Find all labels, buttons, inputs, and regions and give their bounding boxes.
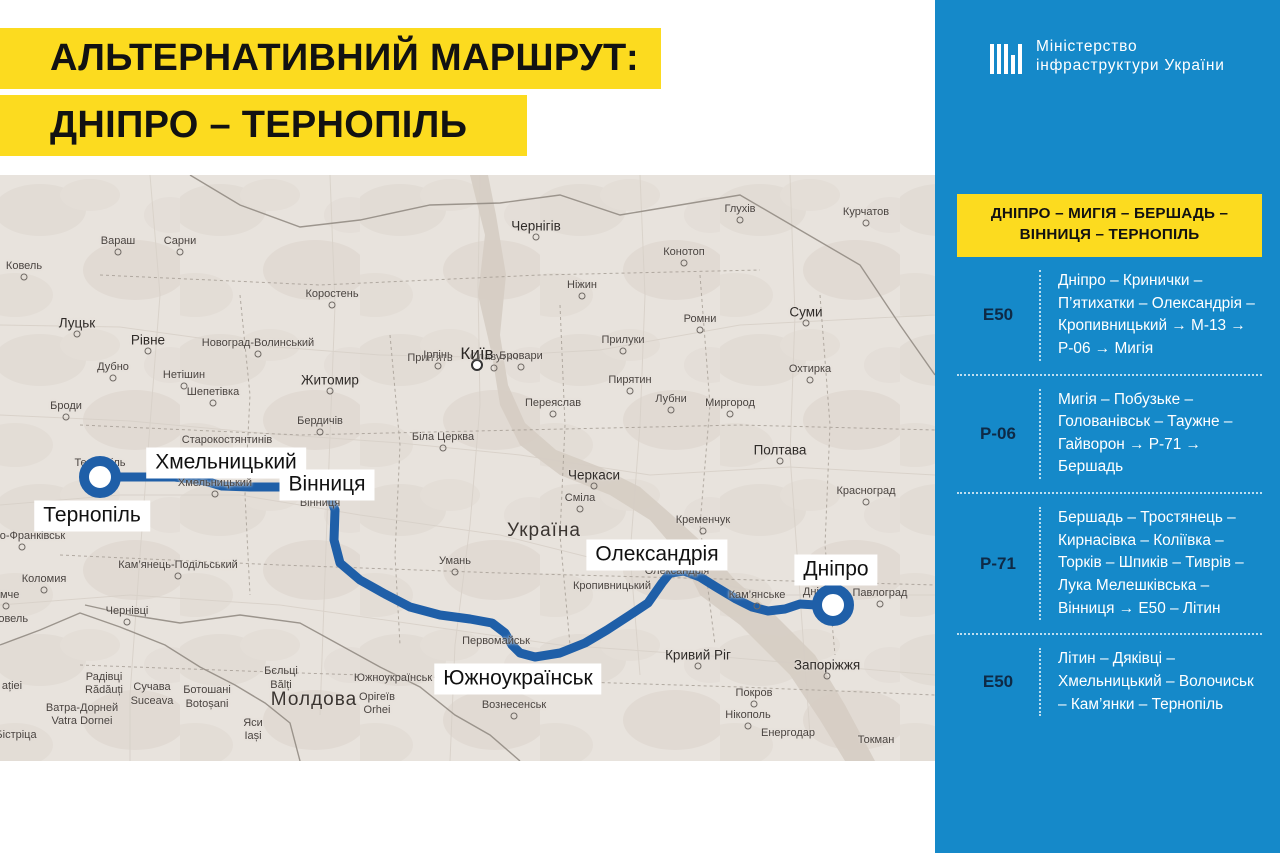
map-city-label: Охтирка [789, 363, 831, 375]
map-city-label: Ніжин [567, 279, 597, 291]
map-city-label: Енергодар [761, 727, 815, 739]
map-city-dot [435, 363, 442, 370]
map-city-label: Івано-Франківськ [0, 530, 65, 542]
map-route-city-callout[interactable]: Южноукраїнськ [434, 664, 601, 695]
map-city-dot [620, 348, 627, 355]
map-city-label: Южноукраїнськ [354, 672, 432, 684]
map-city-label: Умань [439, 555, 471, 567]
route-map[interactable]: КовельВарашСарниЛуцькРівнеНовоград-Волин… [0, 175, 935, 761]
legend-road-code: Р-71 [957, 507, 1041, 620]
map-route-city-callout[interactable]: Олександрія [586, 540, 727, 571]
map-city-label: Бровари [499, 350, 543, 362]
map-city-dot [681, 260, 688, 267]
map-city-dot [591, 483, 598, 490]
map-city-dot [145, 348, 152, 355]
map-city-dot [863, 499, 870, 506]
map-city-dot [115, 249, 122, 256]
map-city-dot [255, 351, 262, 358]
route-legend-rows: E50Дніпро – Кринички – П’ятихатки – Олек… [957, 257, 1262, 729]
map-city-dot [212, 491, 219, 498]
map-city-dot [124, 619, 131, 626]
map-city-label: Запоріжжя [794, 658, 860, 673]
map-city-dot [518, 364, 525, 371]
map-city-label: Нікополь [725, 709, 770, 721]
map-city-label: Красноград [836, 485, 895, 497]
map-city-label: Радівці [86, 671, 123, 683]
map-city-dot [511, 713, 518, 720]
map-city-label: Кам’янське [729, 589, 786, 601]
map-city-label: Курчатов [843, 206, 889, 218]
map-city-label: Vatra Dornei [52, 715, 113, 727]
map-city-label: Кременчук [676, 514, 730, 526]
map-city-dot [110, 375, 117, 382]
map-city-label: Коростень [305, 288, 358, 300]
map-city-label: Орігеїв [359, 691, 395, 703]
map-city-label: Токман [858, 734, 895, 746]
map-country-label: Україна [507, 520, 581, 542]
map-city-dot [533, 234, 540, 241]
map-city-label: Сміла [565, 492, 596, 504]
page-title-line-1: АЛЬТЕРНАТИВНИЙ МАРШРУТ: [0, 28, 661, 89]
map-city-label: Кам’янець-Подільський [118, 559, 238, 571]
map-city-dot [627, 388, 634, 395]
map-city-dot [727, 411, 734, 418]
map-city-label: Старокостянтинів [182, 434, 272, 446]
map-city-label: Бістріца [0, 729, 37, 741]
map-city-dot [210, 400, 217, 407]
map-city-label: Київ [460, 344, 493, 364]
map-city-dot [751, 701, 758, 708]
map-city-label: Кропивницький [573, 580, 651, 592]
map-route-city-callout[interactable]: Тернопіль [34, 501, 150, 532]
map-city-dot [877, 601, 884, 608]
legend-row: Р-71Бершадь – Тростянець – Кирнасівка – … [957, 492, 1262, 633]
map-city-dot [177, 249, 184, 256]
map-city-label: Покров [736, 687, 773, 699]
map-city-label: Глухів [724, 203, 755, 215]
map-route-city-callout[interactable]: Дніпро [794, 555, 877, 586]
map-city-dot [491, 365, 498, 372]
map-country-label: Молдова [271, 689, 357, 711]
map-city-label: Чернівці [106, 605, 149, 617]
map-city-dot [745, 723, 752, 730]
legend-road-description: Мигія – Побузьке – Голованівськ – Таужне… [1041, 389, 1262, 480]
map-city-label: Суми [789, 305, 822, 320]
legend-road-code: E50 [957, 270, 1041, 361]
map-route-city-callout[interactable]: Вінниця [280, 470, 375, 501]
map-city-dot [863, 220, 870, 227]
map-city-label: Коломия [22, 573, 67, 585]
info-panel: Міністерство інфраструктури України ДНІП… [935, 0, 1280, 853]
route-legend-header: ДНІПРО – МИГІЯ – БЕРШАДЬ – ВІННИЦЯ – ТЕР… [957, 194, 1262, 257]
map-city-dot [41, 587, 48, 594]
map-city-label: Ромни [684, 313, 717, 325]
map-city-label: Ватра-Дорней [46, 702, 118, 714]
map-city-label: Павлоград [853, 587, 908, 599]
legend-road-description: Літин – Дяківці – Хмельницький – Волочис… [1041, 648, 1262, 716]
map-city-label: Первомайськ [462, 635, 530, 647]
map-city-dot [175, 573, 182, 580]
map-city-dot [579, 293, 586, 300]
map-city-label: Ковель [0, 613, 28, 625]
map-city-label: Лубни [655, 393, 687, 405]
map-city-label: Ботошані [183, 684, 231, 696]
map-city-label: Бєльці [264, 665, 298, 677]
map-city-label: Хмельницький [178, 477, 252, 489]
map-city-label: Дубно [97, 361, 129, 373]
map-city-dot [697, 327, 704, 334]
route-legend: ДНІПРО – МИГІЯ – БЕРШАДЬ – ВІННИЦЯ – ТЕР… [957, 194, 1262, 729]
map-city-label: Вараш [101, 235, 136, 247]
legend-row: E50Дніпро – Кринички – П’ятихатки – Олек… [957, 257, 1262, 374]
map-city-label: Миргород [705, 397, 755, 409]
page-title-line-2: ДНІПРО – ТЕРНОПІЛЬ [0, 95, 527, 156]
map-city-label: Прилуки [601, 334, 644, 346]
map-city-dot [803, 320, 810, 327]
map-city-label: Переяслав [525, 397, 581, 409]
map-city-label: Полтава [754, 443, 807, 458]
map-city-label: Шепетівка [187, 386, 239, 398]
map-city-dot [577, 506, 584, 513]
map-city-label: Броди [50, 400, 82, 412]
map-city-dot [550, 411, 557, 418]
map-city-dot [327, 388, 334, 395]
map-city-dot [824, 673, 831, 680]
ministry-logo-text: Міністерство інфраструктури України [1036, 38, 1225, 76]
map-city-label: Ірпінь [423, 349, 452, 361]
route-endpoint-marker[interactable] [812, 584, 854, 626]
map-city-label: Конотоп [663, 246, 704, 258]
map-city-label: Хмче [0, 589, 19, 601]
legend-row: Р-06Мигія – Побузьке – Голованівськ – Та… [957, 374, 1262, 493]
map-city-label: Біла Церква [412, 431, 474, 443]
page-title: АЛЬТЕРНАТИВНИЙ МАРШРУТ: ДНІПРО – ТЕРНОПІ… [0, 28, 720, 156]
legend-row: E50Літин – Дяківці – Хмельницький – Воло… [957, 633, 1262, 729]
map-city-label: Нетішин [163, 369, 205, 381]
map-city-dot [440, 445, 447, 452]
map-city-label: Бердичів [297, 415, 343, 427]
map-city-dot [3, 603, 10, 610]
ministry-bars-icon [990, 40, 1024, 74]
map-city-label: Житомир [301, 373, 359, 388]
map-city-dot [777, 458, 784, 465]
map-city-label: Iași [244, 730, 261, 742]
route-endpoint-marker[interactable] [79, 456, 121, 498]
map-city-label: Ковель [6, 260, 42, 272]
map-city-label: Rădăuți [85, 684, 123, 696]
map-city-dot [737, 217, 744, 224]
ministry-logo: Міністерство інфраструктури України [990, 38, 1225, 76]
map-city-label: Кривий Ріг [665, 648, 731, 663]
map-city-dot [74, 331, 81, 338]
map-city-label: Черкаси [568, 468, 620, 483]
map-city-label: Сучава [133, 681, 170, 693]
map-city-dot [807, 377, 814, 384]
ministry-name-line-2: інфраструктури України [1036, 57, 1225, 74]
legend-road-code: E50 [957, 648, 1041, 716]
map-label-layer: КовельВарашСарниЛуцькРівнеНовоград-Волин… [0, 175, 935, 761]
map-city-label: Пирятин [608, 374, 651, 386]
map-city-label: Яси [243, 717, 263, 729]
map-city-label: ației [2, 680, 22, 692]
ministry-name-line-1: Міністерство [1036, 38, 1137, 55]
map-city-label: Сарни [164, 235, 197, 247]
map-city-dot [700, 528, 707, 535]
map-city-label: Новоград-Волинський [202, 337, 314, 349]
map-city-label: Suceava [131, 695, 174, 707]
map-city-dot [754, 603, 761, 610]
map-city-dot [452, 569, 459, 576]
map-city-label: Рівне [131, 333, 165, 348]
legend-road-code: Р-06 [957, 389, 1041, 480]
map-city-dot [695, 663, 702, 670]
map-city-label: Вознесенськ [482, 699, 546, 711]
map-city-dot [329, 302, 336, 309]
map-city-dot [19, 544, 26, 551]
map-city-label: Botoșani [186, 698, 229, 710]
map-base-layer: КовельВарашСарниЛуцькРівнеНовоград-Волин… [0, 175, 935, 761]
map-city-dot [63, 414, 70, 421]
map-city-dot [668, 407, 675, 414]
map-city-dot [21, 274, 28, 281]
legend-road-description: Дніпро – Кринички – П’ятихатки – Олексан… [1041, 270, 1262, 361]
map-city-label: Луцьк [59, 316, 95, 331]
map-city-label: Чернігів [511, 219, 561, 234]
map-city-label: Orhei [364, 704, 391, 716]
map-city-dot [317, 429, 324, 436]
legend-road-description: Бершадь – Тростянець – Кирнасівка – Колі… [1041, 507, 1262, 620]
